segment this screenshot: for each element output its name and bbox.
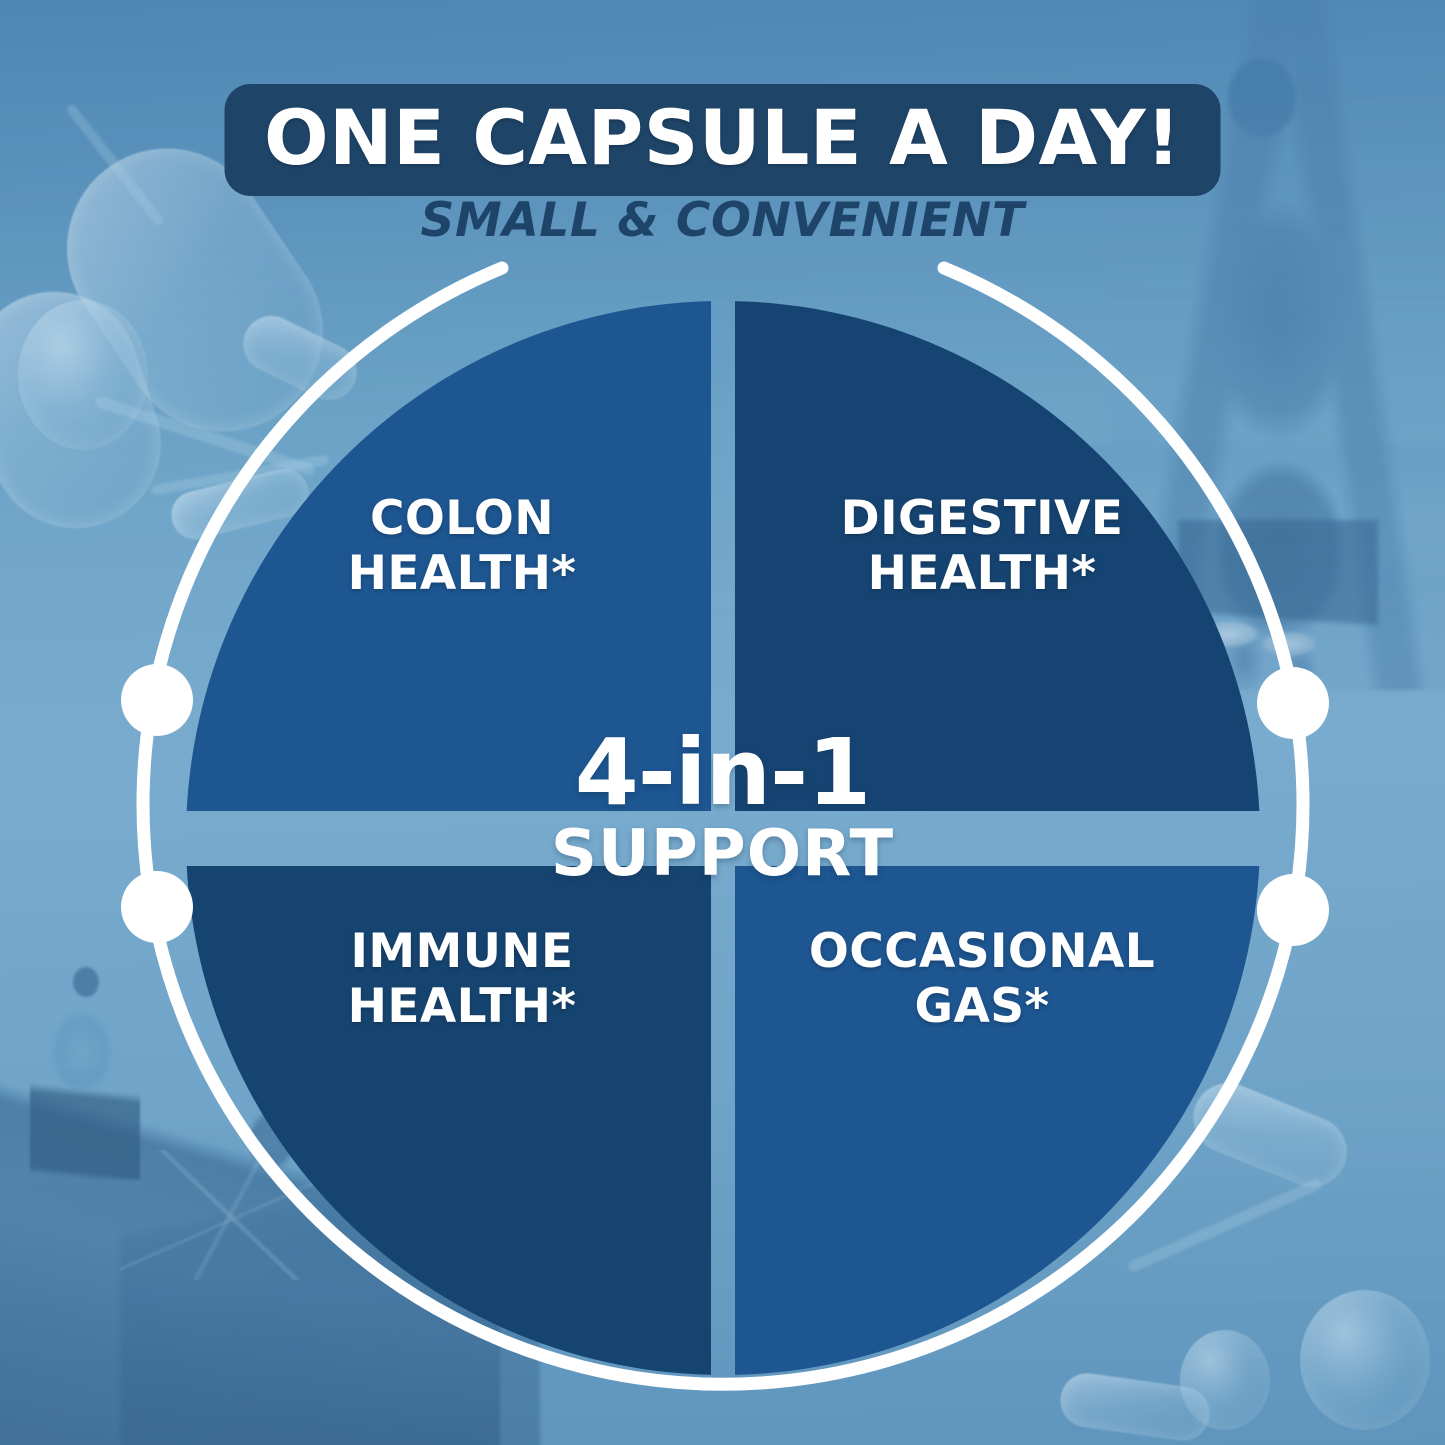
quadrant-label-immune-health: IMMUNE HEALTH* xyxy=(252,925,672,1034)
connector-dot-top-right xyxy=(1257,667,1329,739)
quadrant-label-colon-health: COLON HEALTH* xyxy=(252,492,672,601)
connector-dot-top-left xyxy=(121,664,193,736)
quadrant-label-occasional-gas: OCCASIONAL GAS* xyxy=(772,925,1192,1034)
connector-dot-bottom-right xyxy=(1257,874,1329,946)
wheel-center-label: 4-in-1 SUPPORT xyxy=(413,728,1033,886)
wheel-center-primary: 4-in-1 xyxy=(413,728,1033,818)
infographic-canvas: ONE CAPSULE A DAY! SMALL & CONVENIENT xyxy=(0,0,1445,1445)
wheel-center-secondary: SUPPORT xyxy=(413,822,1033,886)
connector-dot-bottom-left xyxy=(121,871,193,943)
quadrant-label-digestive-health: DIGESTIVE HEALTH* xyxy=(772,492,1192,601)
